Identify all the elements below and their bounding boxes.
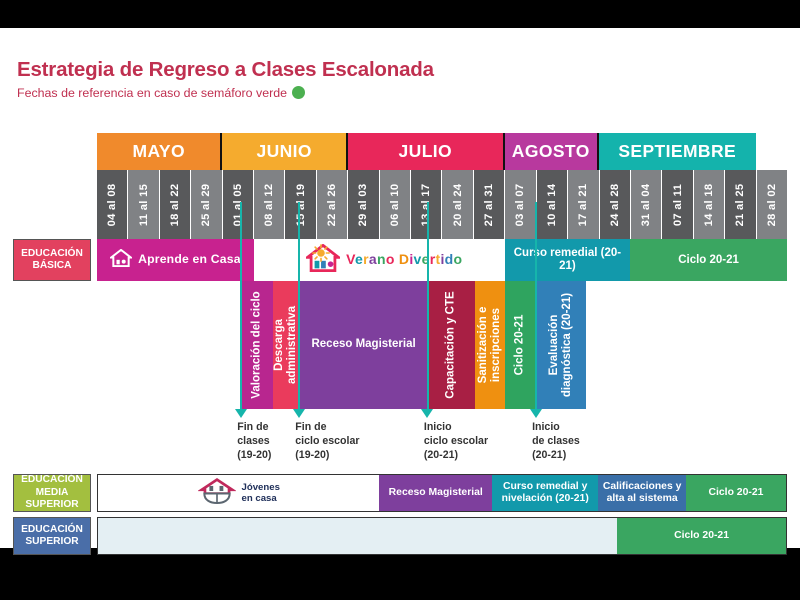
week-cell: 18 al 22 (160, 170, 191, 239)
segment-receso-magisterial: Receso Magisterial (299, 281, 428, 409)
verano-divertido-text: Verano Divertido (346, 252, 462, 268)
callout-line: Inicio (424, 421, 488, 435)
segment-valoraci-n-del-ciclo: Valoración del ciclo (241, 281, 272, 409)
callout-line: (20-21) (424, 449, 488, 463)
segment-descarga-administrativa: Descarga administrativa (273, 281, 300, 409)
week-label: 04 al 08 (106, 183, 118, 226)
week-label: 07 al 11 (672, 183, 684, 225)
callout-guide-line (240, 202, 242, 409)
week-label: 08 al 12 (263, 183, 275, 226)
week-label: 24 al 28 (609, 183, 621, 226)
segment-calificaciones-y-alta-al-sistema: Calificaciones y alta al sistema (598, 475, 686, 511)
callout-line: clases (237, 435, 271, 449)
segment-label: Ciclo 20-21 (514, 286, 527, 404)
month-header-agosto: AGOSTO (505, 133, 599, 170)
segment-label: Descarga administrativa (273, 286, 299, 404)
sidebar-label-educacion-superior: EDUCACIÓN SUPERIOR (13, 517, 91, 555)
week-cell: 21 al 25 (725, 170, 756, 239)
segment-empty (586, 281, 787, 409)
week-cell: 03 al 07 (505, 170, 536, 239)
week-label: 21 al 25 (734, 183, 746, 226)
week-cell: 17 al 21 (568, 170, 599, 239)
week-cell: 29 al 03 (348, 170, 379, 239)
aprende-en-casa-text: Aprende en Casa (138, 253, 241, 267)
week-label: 06 al 10 (389, 183, 401, 226)
callout-guide-line (535, 202, 537, 409)
jovenes-line-2: en casa (242, 493, 277, 504)
educacion-superior-row: Ciclo 20-21 (97, 517, 787, 555)
week-label: 10 al 14 (546, 183, 558, 226)
week-label: 28 al 02 (766, 183, 778, 226)
house-book-icon (198, 477, 236, 509)
callout-arrow-icon (421, 409, 433, 418)
verano-divertido-logo: Verano Divertido (296, 244, 462, 276)
house-icon: Aprende en Casa (97, 239, 254, 281)
segment-ciclo-20-21: Ciclo 20-21 (617, 518, 786, 554)
callout-line: de clases (532, 435, 580, 449)
week-label: 20 al 24 (452, 183, 464, 226)
week-label: 03 al 07 (514, 183, 526, 226)
month-header-junio: JUNIO (222, 133, 347, 170)
week-cell: 07 al 11 (662, 170, 693, 239)
callout-line: (19-20) (237, 449, 271, 463)
week-cell: 31 al 04 (631, 170, 662, 239)
week-label: 31 al 04 (640, 183, 652, 226)
week-cell: 27 al 31 (474, 170, 505, 239)
callout-text: Fin deciclo escolar(19-20) (295, 421, 359, 462)
callout-line: (19-20) (295, 449, 359, 463)
verano-divertido-logo: Verano Divertido (254, 239, 505, 281)
segment-label: Ciclo 20-21 (675, 254, 742, 267)
callout-guide-line (298, 202, 300, 409)
segment-capacitaci-n-y-cte: Capacitación y CTE (428, 281, 475, 409)
segment-curso-remedial-20-21: Curso remedial (20-21) (505, 239, 630, 281)
week-cell: 11 al 15 (128, 170, 159, 239)
callout-text: Iniciociclo escolar(20-21) (424, 421, 488, 462)
callout-arrow-icon (235, 409, 247, 418)
segment-label: Capacitación y CTE (445, 286, 458, 404)
jovenes-line-1: Jóvenes (242, 482, 280, 493)
week-label: 17 al 21 (577, 183, 589, 226)
segment-evaluaci-n-diagn-stica-20-21: Evaluación diagnóstica (20-21) (536, 281, 586, 409)
callout-text: Iniciode clases(20-21) (532, 421, 580, 462)
house-icon (110, 249, 132, 271)
segment-label: Sanitización e inscripciones (477, 286, 503, 404)
segment-label: Ciclo 20-21 (671, 530, 732, 542)
week-cell: 04 al 08 (97, 170, 128, 239)
segment-label: Curso remedial y nivelación (20-21) (492, 481, 598, 505)
sun-icon (312, 244, 330, 266)
sidebar-label-educacion-basica: EDUCACIÓN BÁSICA (13, 239, 91, 281)
callout-arrow-icon (530, 409, 542, 418)
segment-empty (98, 518, 617, 554)
week-label: 22 al 26 (326, 183, 338, 226)
callout-line: ciclo escolar (295, 435, 359, 449)
segment-label: Calificaciones y alta al sistema (598, 481, 686, 505)
week-cell: 10 al 14 (537, 170, 568, 239)
educacion-basica-activity-row: Aprende en CasaVerano DivertidoCurso rem… (97, 239, 787, 281)
segment-ciclo-20-21: Ciclo 20-21 (630, 239, 787, 281)
educacion-media-superior-row: Jóvenesen casaReceso MagisterialCurso re… (97, 474, 787, 512)
week-label: 11 al 15 (138, 183, 150, 225)
jovenes-en-casa-logo: Jóvenesen casa (98, 475, 379, 511)
week-cell: 24 al 28 (600, 170, 631, 239)
callout-line: ciclo escolar (424, 435, 488, 449)
segment-label: Receso Magisterial (386, 487, 486, 499)
segment-ciclo-20-21: Ciclo 20-21 (505, 281, 536, 409)
callout-arrow-icon (293, 409, 305, 418)
infographic-sheet: Estrategia de Regreso a Clases Escalonad… (0, 28, 800, 548)
sidebar-label-educacion-media-superior: EDUCACIÓN MEDIA SUPERIOR (13, 474, 91, 512)
educacion-basica-detail-row: Valoración del cicloDescarga administrat… (97, 281, 787, 409)
jovenes-en-casa-logo: Jóvenesen casa (198, 477, 280, 509)
jovenes-en-casa-text: Jóvenesen casa (242, 482, 280, 504)
callout-line: (20-21) (532, 449, 580, 463)
week-cell: 06 al 10 (380, 170, 411, 239)
month-header-septiembre: SEPTIEMBRE (599, 133, 756, 170)
week-label: 15 al 19 (295, 183, 307, 226)
callout-line: Fin de (295, 421, 359, 435)
week-cell: 14 al 18 (694, 170, 725, 239)
semaforo-verde-icon (292, 86, 305, 99)
week-label: 18 al 22 (169, 183, 181, 226)
week-cell: 25 al 29 (191, 170, 222, 239)
month-header-mayo: MAYO (97, 133, 222, 170)
page-subtitle: Fechas de referencia en caso de semáforo… (17, 86, 305, 100)
segment-label: Receso Magisterial (307, 338, 419, 351)
segment-label: Evaluación diagnóstica (20-21) (548, 286, 574, 404)
calendar-grid: MAYOJUNIOJULIOAGOSTOSEPTIEMBRE 04 al 081… (97, 133, 787, 239)
segment-label: Curso remedial (20-21) (505, 247, 630, 273)
week-label: 25 al 29 (200, 183, 212, 226)
week-cell: 20 al 24 (442, 170, 473, 239)
segment-ciclo-20-21: Ciclo 20-21 (686, 475, 786, 511)
weeks-header-row: 04 al 0811 al 1518 al 2225 al 2901 al 05… (97, 170, 787, 239)
week-cell: 08 al 12 (254, 170, 285, 239)
segment-receso-magisterial: Receso Magisterial (379, 475, 492, 511)
months-header-row: MAYOJUNIOJULIOAGOSTOSEPTIEMBRE (97, 133, 787, 170)
month-header-julio: JULIO (348, 133, 505, 170)
callout-text: Fin declases(19-20) (237, 421, 271, 462)
week-cell: 28 al 02 (757, 170, 787, 239)
segment-empty (97, 281, 241, 409)
week-label: 14 al 18 (703, 183, 715, 226)
segment-curso-remedial-y-nivelaci-n-20-21: Curso remedial y nivelación (20-21) (492, 475, 598, 511)
week-label: 27 al 31 (483, 183, 495, 226)
segment-label: Ciclo 20-21 (706, 487, 767, 499)
segment-sanitizaci-n-e-inscripciones: Sanitización e inscripciones (475, 281, 505, 409)
callout-line: Fin de (237, 421, 271, 435)
week-label: 29 al 03 (357, 183, 369, 226)
page-title: Estrategia de Regreso a Clases Escalonad… (17, 58, 434, 82)
infographic-stage: Estrategia de Regreso a Clases Escalonad… (0, 0, 800, 600)
callout-guide-line (427, 202, 429, 409)
subtitle-text: Fechas de referencia en caso de semáforo… (17, 86, 287, 100)
callout-line: Inicio (532, 421, 580, 435)
week-cell: 01 al 05 (223, 170, 254, 239)
aprende-en-casa-logo: Aprende en Casa (110, 249, 241, 271)
segment-label: Valoración del ciclo (251, 286, 264, 404)
week-cell: 15 al 19 (285, 170, 316, 239)
week-cell: 22 al 26 (317, 170, 348, 239)
